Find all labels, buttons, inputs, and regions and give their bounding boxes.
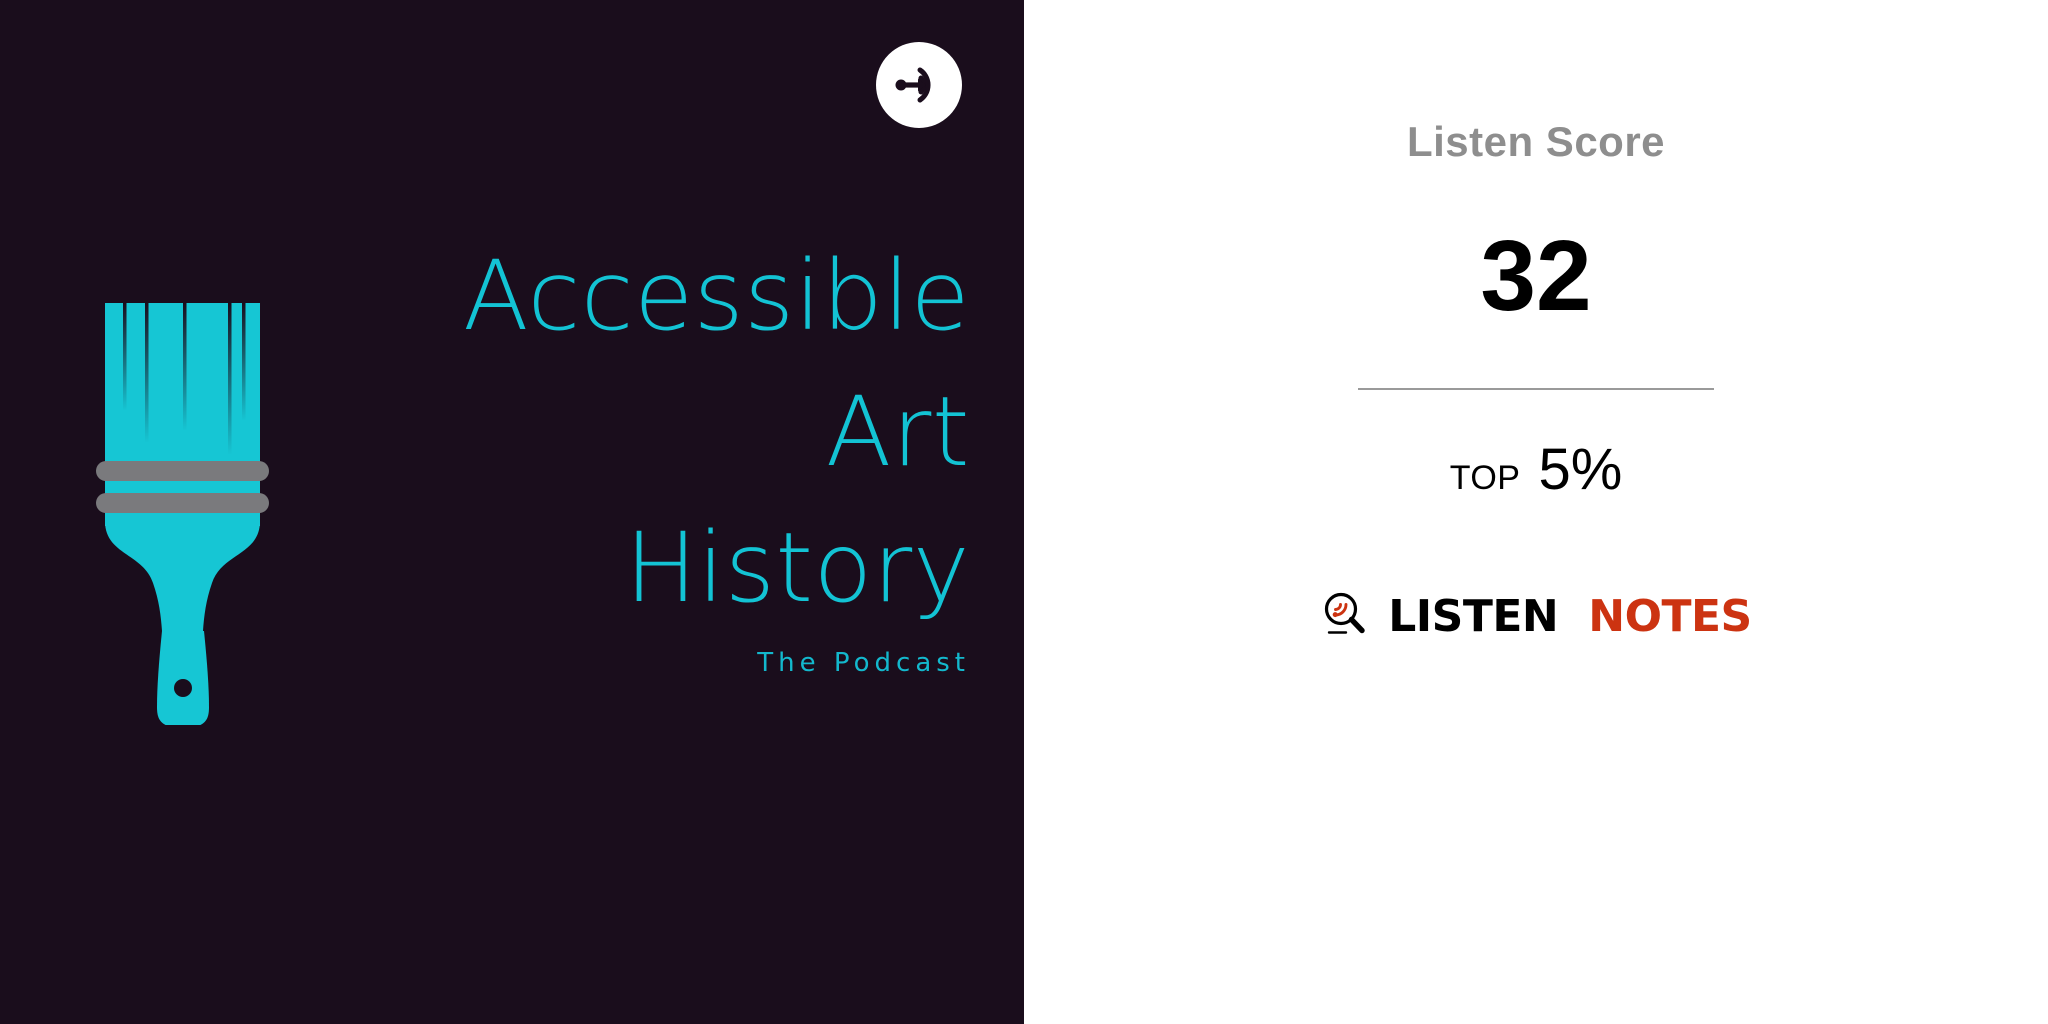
- listen-score-label: Listen Score: [1301, 118, 1771, 166]
- cover-title-line-1: Accessible: [150, 228, 970, 364]
- listen-notes-logo[interactable]: LISTEN NOTES: [1301, 589, 1771, 644]
- cover-title-line-3: History: [150, 500, 970, 636]
- podcast-cover-art: Accessible Art History The Podcast: [0, 0, 1024, 1024]
- listen-score-value: 32: [1301, 226, 1771, 326]
- cover-title-line-2: Art: [150, 364, 970, 500]
- cover-title-block: Accessible Art History The Podcast: [150, 228, 1024, 678]
- score-divider: [1358, 388, 1714, 390]
- cover-subtitle: The Podcast: [150, 648, 970, 678]
- listen-score-panel: Listen Score 32 TOP 5%: [1024, 0, 2048, 1024]
- rank-percentile-value: 5%: [1538, 436, 1622, 503]
- rank-prefix-label: TOP: [1450, 459, 1521, 498]
- brand-word-notes: NOTES: [1588, 595, 1752, 639]
- global-rank: TOP 5%: [1301, 436, 1771, 503]
- broadcast-arrow-icon: [890, 56, 948, 114]
- magnifier-rss-icon: [1320, 589, 1370, 644]
- brand-word-listen: LISTEN: [1388, 595, 1558, 639]
- anchor-podcast-badge: [876, 42, 962, 128]
- listen-score-card: Accessible Art History The Podcast Liste…: [0, 0, 2048, 1024]
